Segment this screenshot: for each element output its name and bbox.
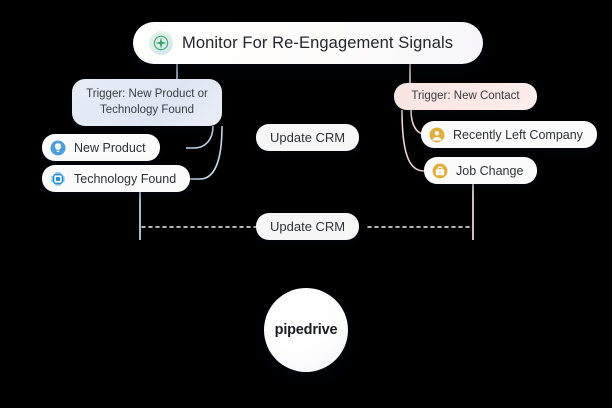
item-recently-left-company-label: Recently Left Company (453, 128, 583, 142)
trigger-node-right[interactable]: Trigger: New Contact (394, 83, 537, 110)
header-node[interactable]: Monitor For Re-Engagement Signals (133, 22, 483, 64)
item-recently-left-company[interactable]: Recently Left Company (421, 121, 597, 148)
trigger-right-label: Trigger: New Contact (411, 89, 519, 105)
action-label-bottom-text: Update CRM (270, 219, 345, 234)
item-job-change[interactable]: Job Change (424, 157, 537, 184)
user-avatar-icon (428, 126, 446, 144)
item-technology-found-label: Technology Found (74, 172, 176, 186)
cpu-chip-icon (49, 170, 67, 188)
item-job-change-label: Job Change (456, 164, 523, 178)
item-new-product[interactable]: New Product (42, 134, 160, 161)
destination-node-pipedrive[interactable]: pipedrive (264, 288, 348, 372)
trigger-left-label: Trigger: New Product or Technology Found (82, 87, 212, 118)
header-label: Monitor For Re-Engagement Signals (182, 34, 453, 53)
action-label-top-text: Update CRM (270, 130, 345, 145)
action-label-update-crm-top[interactable]: Update CRM (256, 124, 359, 151)
item-new-product-label: New Product (74, 141, 146, 155)
briefcase-icon (431, 162, 449, 180)
trigger-node-left[interactable]: Trigger: New Product or Technology Found (72, 79, 222, 126)
lightbulb-icon (49, 139, 67, 157)
edge-left-trigger-to-new-product (186, 126, 213, 148)
workflow-diagram-canvas: Monitor For Re-Engagement Signals Trigge… (0, 0, 612, 408)
sparkle-icon (149, 31, 173, 55)
pipedrive-logo-text: pipedrive (275, 322, 338, 338)
edge-left-trigger-to-technology (188, 126, 222, 179)
item-technology-found[interactable]: Technology Found (42, 165, 190, 192)
action-label-update-crm-bottom[interactable]: Update CRM (256, 213, 359, 240)
